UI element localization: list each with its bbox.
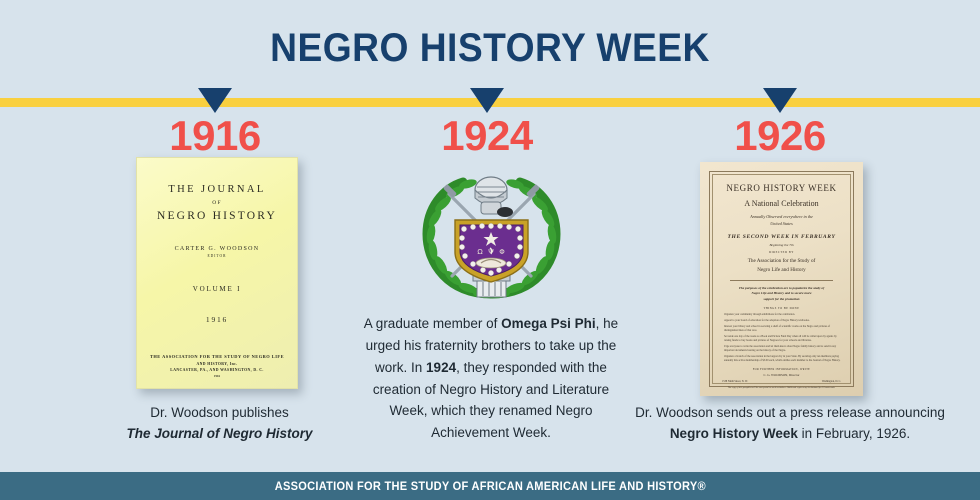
press-border-inner: NEGRO HISTORY WEEK A National Celebratio…: [712, 174, 851, 384]
press-list-item: Appeal to your board of education for th…: [724, 319, 843, 323]
journal-year: 1916: [147, 315, 287, 324]
year-label-1926: 1926: [700, 112, 860, 160]
svg-text:Φ: Φ: [499, 248, 505, 256]
body-text-1924: A graduate member of Omega Psi Phi, he u…: [352, 313, 630, 444]
press-signature-name: C. G. WOODSON, Director: [720, 373, 843, 377]
press-release-image: NEGRO HISTORY WEEK A National Celebratio…: [700, 162, 863, 396]
body-1924-b1: Omega Psi Phi: [501, 316, 596, 331]
press-list-item: Organize a branch of the association in …: [724, 355, 843, 363]
press-org-line1: The Association for the Study of: [720, 257, 843, 265]
journal-author-role: EDITOR: [147, 254, 287, 258]
body-1924-b2: 1924: [426, 360, 456, 375]
journal-publisher-line3: LANCASTER, PA., AND WASHINGTON, D. C.: [147, 367, 287, 373]
press-directed-by: DIRECTED BY: [720, 251, 843, 254]
svg-text:Ω: Ω: [477, 248, 483, 256]
caption-1916-line1: Dr. Woodson publishes: [150, 405, 289, 420]
page-title: NEGRO HISTORY WEEK: [34, 26, 945, 71]
footer-bar: ASSOCIATION FOR THE STUDY OF AFRICAN AME…: [0, 472, 980, 500]
press-observed-line2: United States: [720, 221, 843, 228]
body-1924-p1: A graduate member of: [364, 316, 501, 331]
journal-title-line1: THE JOURNAL: [147, 184, 287, 195]
press-item-list: Organize your community through exhibiti…: [720, 313, 843, 363]
press-list-item: Urge everyone to write the association a…: [724, 345, 843, 353]
press-address-left: 1538 Ninth Street, N. W.: [722, 380, 748, 383]
timeline-marker-1916: [198, 88, 232, 113]
press-list-item: Set aside one day of the week as a Book …: [724, 335, 843, 343]
press-subheading: A National Celebration: [720, 199, 843, 208]
caption-1926-rest: in February, 1926.: [798, 426, 910, 441]
journal-author: CARTER G. WOODSON: [147, 246, 287, 252]
infographic-canvas: NEGRO HISTORY WEEK 1916 1924 1926 THE JO…: [0, 0, 980, 500]
journal-publisher-line4: 1916: [147, 374, 287, 378]
press-beginning: Beginning the 7th: [720, 243, 843, 247]
caption-1916-line2: The Journal of Negro History: [126, 426, 312, 441]
year-label-1924: 1924: [407, 112, 567, 160]
year-label-1916: 1916: [135, 112, 295, 160]
press-things-header: THINGS TO BE DONE: [720, 307, 843, 310]
journal-title-line2: NEGRO HISTORY: [147, 210, 287, 222]
omega-psi-phi-crest-icon: Ω Ψ Φ: [419, 168, 564, 308]
press-org-line2: Negro Life and History: [720, 266, 843, 274]
timeline-marker-1924: [470, 88, 504, 113]
press-observed-line1: Annually Observed everywhere in the: [720, 214, 843, 221]
press-week-line: THE SECOND WEEK IN FEBRUARY: [720, 234, 843, 240]
press-address-right: Washington, D. C.: [822, 380, 841, 383]
caption-1916: Dr. Woodson publishes The Journal of Neg…: [82, 403, 357, 445]
journal-of: OF: [147, 200, 287, 206]
press-list-item: Organize your community through exhibiti…: [724, 313, 843, 317]
press-signature-line: FOR FURTHER INFORMATION, WRITE: [720, 368, 843, 371]
caption-1926: Dr. Woodson sends out a press release an…: [600, 403, 980, 445]
press-purpose-line3: support for the promotion: [720, 297, 843, 302]
press-heading: NEGRO HISTORY WEEK: [720, 183, 843, 193]
journal-volume: VOLUME I: [147, 285, 287, 293]
press-note: The copy of this pamphlet will be sent p…: [720, 387, 843, 390]
journal-cover-image: THE JOURNAL OF NEGRO HISTORY CARTER G. W…: [136, 157, 298, 389]
press-list-item: Interest your library and school in secu…: [724, 325, 843, 333]
press-address: 1538 Ninth Street, N. W. Washington, D. …: [720, 380, 843, 383]
press-border-outer: NEGRO HISTORY WEEK A National Celebratio…: [709, 171, 854, 387]
caption-1926-bold: Negro History Week: [670, 426, 798, 441]
journal-publisher-line1: THE ASSOCIATION FOR THE STUDY OF NEGRO L…: [147, 354, 287, 361]
press-divider: [730, 280, 833, 281]
footer-text: ASSOCIATION FOR THE STUDY OF AFRICAN AME…: [274, 479, 705, 493]
caption-1926-line1: Dr. Woodson sends out a press release an…: [635, 405, 945, 420]
timeline-marker-1926: [763, 88, 797, 113]
